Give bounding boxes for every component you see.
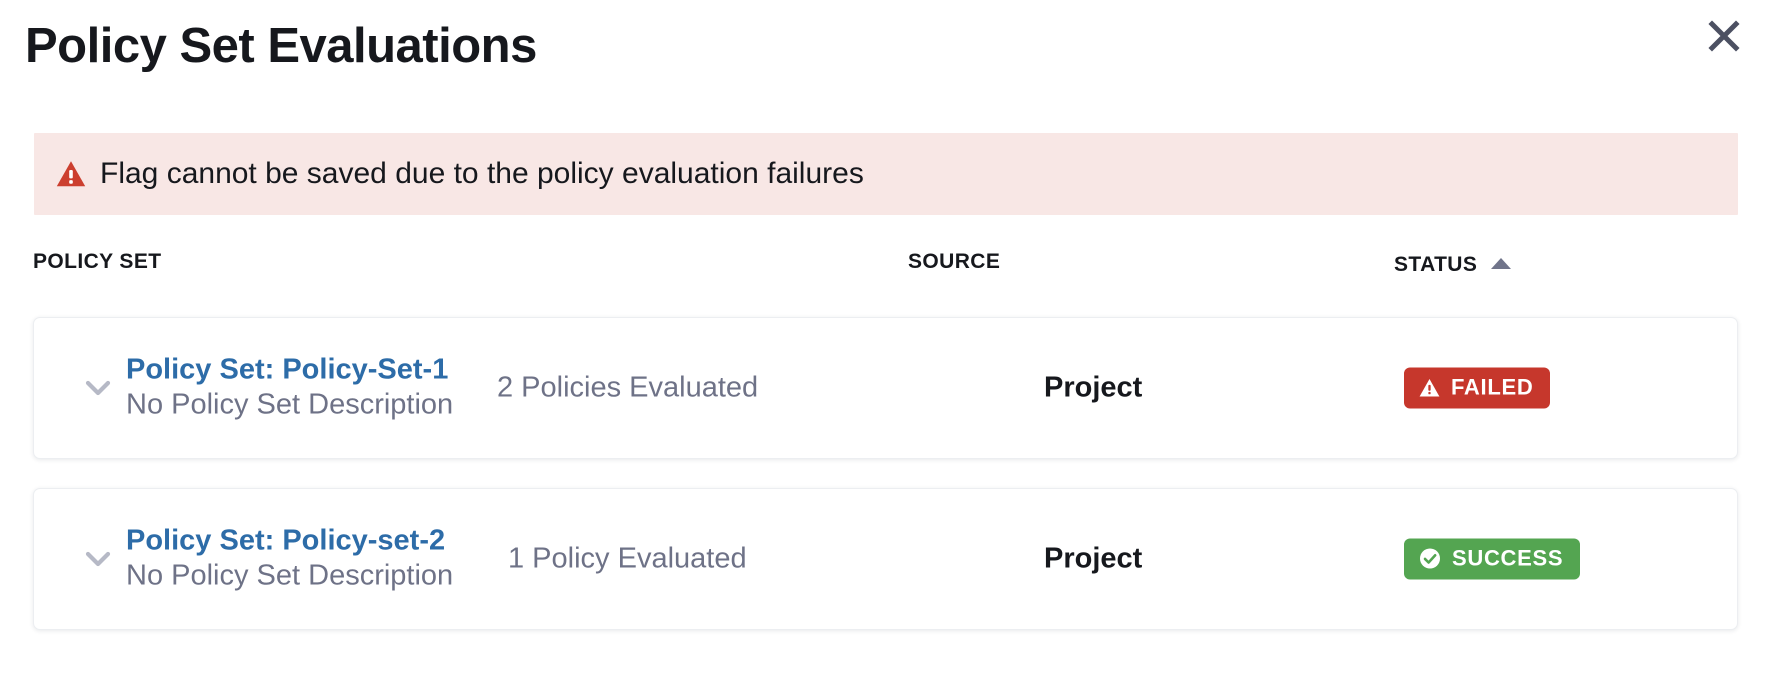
table-header-row: POLICY SET SOURCE STATUS bbox=[0, 248, 1782, 288]
policy-failure-alert: Flag cannot be saved due to the policy e… bbox=[34, 133, 1738, 215]
policies-evaluated-count: 1 Policy Evaluated bbox=[508, 543, 747, 576]
alert-message: Flag cannot be saved due to the policy e… bbox=[100, 156, 864, 192]
column-header-source[interactable]: SOURCE bbox=[908, 250, 1000, 274]
status-cell: FAILED bbox=[1404, 368, 1550, 409]
close-button[interactable] bbox=[1700, 12, 1748, 60]
source-cell: Project bbox=[1044, 372, 1142, 405]
status-cell: SUCCESS bbox=[1404, 539, 1580, 580]
table-row[interactable]: Policy Set: Policy-Set-1 No Policy Set D… bbox=[33, 317, 1738, 459]
source-cell: Project bbox=[1044, 543, 1142, 576]
policies-evaluated-count: 2 Policies Evaluated bbox=[497, 372, 758, 405]
policy-set-cell: Policy Set: Policy-set-2 No Policy Set D… bbox=[126, 524, 456, 595]
sort-ascending-icon bbox=[1491, 258, 1511, 269]
modal-header: Policy Set Evaluations bbox=[0, 0, 1782, 100]
status-badge: FAILED bbox=[1404, 368, 1550, 409]
column-header-policy-set[interactable]: POLICY SET bbox=[33, 250, 161, 274]
table-row[interactable]: Policy Set: Policy-set-2 No Policy Set D… bbox=[33, 488, 1738, 630]
policy-set-evaluation-list: Policy Set: Policy-Set-1 No Policy Set D… bbox=[0, 317, 1782, 659]
policy-set-description: No Policy Set Description bbox=[126, 559, 456, 594]
column-header-status-label: STATUS bbox=[1394, 253, 1477, 277]
policy-set-description: No Policy Set Description bbox=[126, 388, 456, 423]
page-title: Policy Set Evaluations bbox=[25, 12, 1748, 74]
check-circle-icon bbox=[1419, 548, 1441, 570]
column-header-status[interactable]: STATUS bbox=[1394, 253, 1511, 277]
policy-set-cell: Policy Set: Policy-Set-1 No Policy Set D… bbox=[126, 353, 456, 424]
status-badge: SUCCESS bbox=[1404, 539, 1580, 580]
policy-set-link[interactable]: Policy Set: Policy-set-2 bbox=[126, 524, 456, 559]
warning-triangle-icon bbox=[56, 159, 86, 189]
warning-triangle-icon bbox=[1419, 377, 1440, 398]
policy-set-link[interactable]: Policy Set: Policy-Set-1 bbox=[126, 353, 456, 388]
status-badge-label: FAILED bbox=[1451, 375, 1533, 401]
chevron-down-icon[interactable] bbox=[80, 370, 116, 406]
status-badge-label: SUCCESS bbox=[1452, 546, 1563, 572]
close-icon bbox=[1707, 19, 1741, 53]
chevron-down-icon[interactable] bbox=[80, 541, 116, 577]
